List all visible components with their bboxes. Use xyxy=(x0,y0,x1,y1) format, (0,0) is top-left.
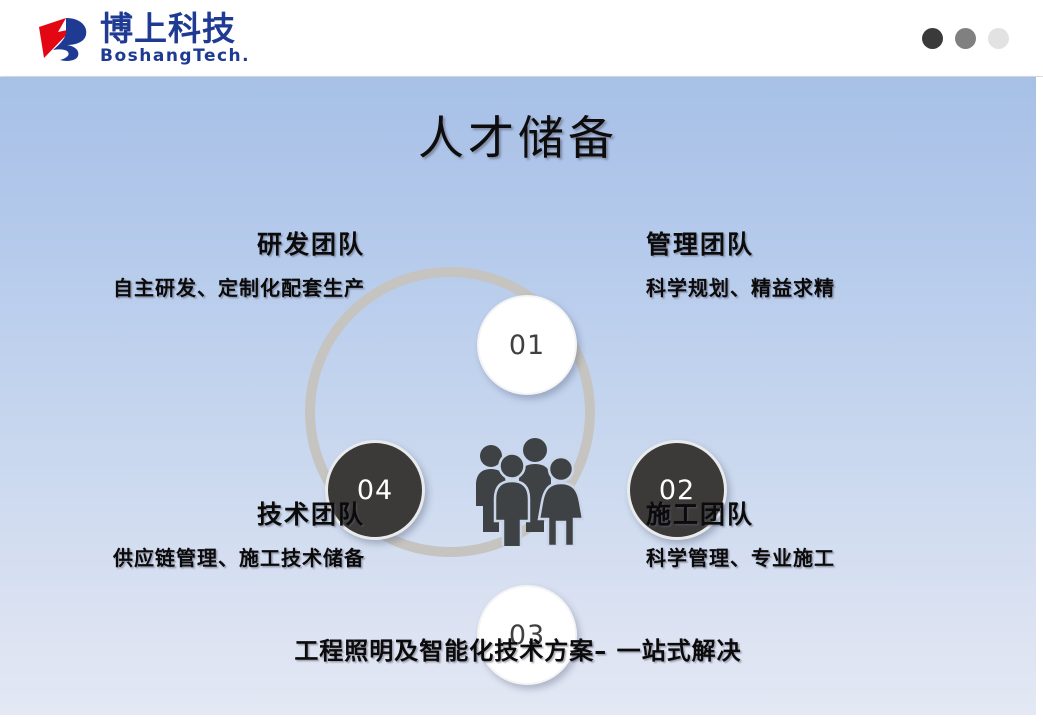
slide-header: 博上科技 BoshangTech. xyxy=(0,0,1043,77)
quadrant-construction-team: 施工团队 科学管理、专业施工 xyxy=(646,495,986,571)
quadrant-technical-team: 技术团队 供应链管理、施工技术储备 xyxy=(25,495,365,571)
group-of-people-icon xyxy=(468,434,586,546)
logo-chinese-name: 博上科技 xyxy=(100,12,250,46)
dot-light-icon xyxy=(988,28,1009,49)
quadrant-management-team: 管理团队 科学规划、精益求精 xyxy=(646,225,986,301)
slide-footer-tagline: 工程照明及智能化技术方案– 一站式解决 xyxy=(0,631,1036,666)
cycle-node-01[interactable]: 01 xyxy=(477,295,577,395)
quadrant-construction-team-title: 施工团队 xyxy=(646,495,986,531)
bottom-margin xyxy=(0,715,1043,727)
quadrant-technical-team-title: 技术团队 xyxy=(25,495,365,531)
quadrant-rd-team-title: 研发团队 xyxy=(25,225,365,261)
dot-dark-icon xyxy=(922,28,943,49)
quadrant-construction-team-subtitle: 科学管理、专业施工 xyxy=(646,542,986,571)
page-title: 人才储备 xyxy=(0,102,1036,168)
quadrant-management-team-subtitle: 科学规划、精益求精 xyxy=(646,272,986,301)
header-dots-decoration xyxy=(922,28,1009,49)
quadrant-technical-team-subtitle: 供应链管理、施工技术储备 xyxy=(25,542,365,571)
logo-english-name: BoshangTech. xyxy=(100,48,250,65)
right-margin xyxy=(1036,77,1043,727)
dot-mid-icon xyxy=(955,28,976,49)
quadrant-rd-team: 研发团队 自主研发、定制化配套生产 xyxy=(25,225,365,301)
quadrant-rd-team-subtitle: 自主研发、定制化配套生产 xyxy=(25,272,365,301)
quadrant-management-team-title: 管理团队 xyxy=(646,225,986,261)
logo-wordmark: 博上科技 BoshangTech. xyxy=(100,12,250,65)
company-logo: 博上科技 BoshangTech. xyxy=(36,12,250,65)
presentation-slide: 博上科技 BoshangTech. 人才储备 xyxy=(0,0,1043,727)
boshang-bs-mark-icon xyxy=(36,14,92,62)
slide-body: 人才储备 01 02 03 04 xyxy=(0,77,1036,715)
